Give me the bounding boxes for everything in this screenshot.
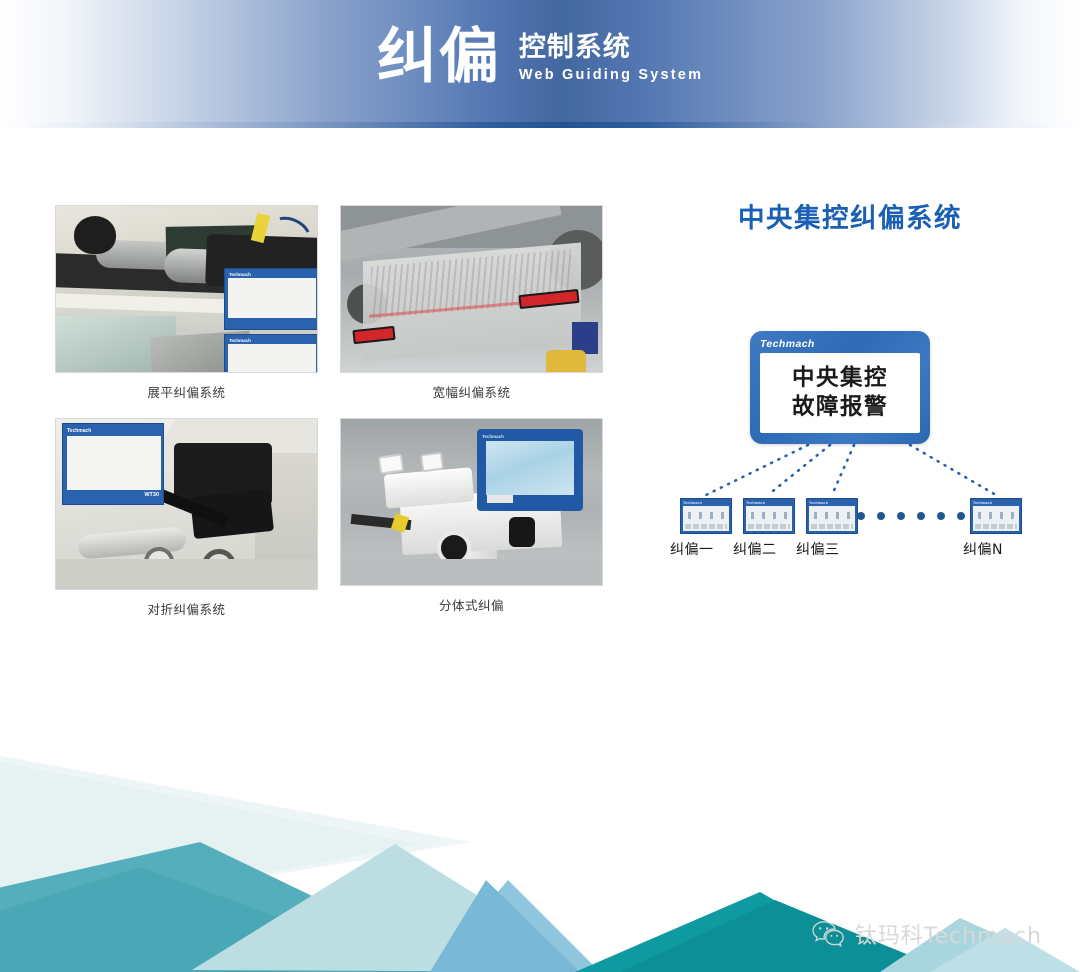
slide-page: 纠偏 控制系统 Web Guiding System Techmach [0,0,1080,972]
central-display-screen: 中央集控 故障报警 [760,353,920,433]
wechat-icon [811,920,845,948]
central-control-unit: Techmach 中央集控 故障报警 [750,331,930,444]
photo-cell-folding: Techmach WT30 对折纠偏系统 [55,418,318,618]
diagram-node-n[interactable]: Techmach [970,498,1022,534]
footer-account: 钛玛科Techmach [811,918,1042,950]
central-control-diagram: 中央集控纠偏系统 Techmach 中央集控 故障报警 Techmach [640,196,1060,526]
photo-folding-web-guide: Techmach WT30 [55,418,318,590]
photo-caption-split-type: 分体式纠偏 [340,595,603,614]
photo-control-panel: Techmach WT30 [62,423,164,505]
page-subtitle-english: Web Guiding System [519,67,703,83]
photo-split-type-guide: Techmach [340,418,603,586]
photo-panel-upper: Techmach [224,268,318,330]
diagram-title: 中央集控纠偏系统 [640,196,1060,235]
photo-row-bottom: Techmach WT30 对折纠偏系统 Te [55,418,603,618]
page-header: 纠偏 控制系统 Web Guiding System [0,0,1080,128]
title-side-group: 控制系统 Web Guiding System [519,32,703,87]
diagram-node-3[interactable]: Techmach [806,498,858,534]
diagram-node-2[interactable]: Techmach [743,498,795,534]
photo-panel-lower: Techmach [224,334,318,373]
photo-cell-split-type: Techmach 分体式纠偏 [340,418,603,618]
footer-account-name: 钛玛科Techmach [855,918,1042,950]
diagram-ellipsis-dots [857,512,965,520]
photo-flattening-web-guide: Techmach Techmach [55,205,318,373]
central-line-1: 中央集控 [792,365,888,392]
central-line-2: 故障报警 [792,394,888,421]
diagram-node-label-2: 纠偏二 [733,539,777,559]
diagram-node-label-3: 纠偏三 [796,539,840,559]
header-underline [0,122,1080,128]
photo-hmi-touchscreen: Techmach [477,429,583,511]
photo-gallery: Techmach Techmach 展平纠偏系统 宽幅纠偏系统 [55,205,603,618]
diagram-node-label-1: 纠偏一 [670,539,714,559]
central-brand-label: Techmach [760,338,920,350]
photo-wide-web-guide [340,205,603,373]
page-title: 纠偏 [377,27,501,87]
photo-cell-wide-web: 宽幅纠偏系统 [340,205,603,401]
diagram-body: Techmach 中央集控 故障报警 Techmach 纠偏一 Techmach… [640,255,1060,555]
photo-caption-folding: 对折纠偏系统 [55,599,318,618]
page-subtitle: 控制系统 [519,32,631,63]
photo-caption-flattening: 展平纠偏系统 [55,382,318,401]
photo-caption-wide-web: 宽幅纠偏系统 [340,382,603,401]
diagram-node-1[interactable]: Techmach [680,498,732,534]
title-group: 纠偏 控制系统 Web Guiding System [377,27,703,87]
photo-row-top: Techmach Techmach 展平纠偏系统 宽幅纠偏系统 [55,205,603,401]
diagram-node-label-n: 纠偏N [963,539,1003,559]
photo-cell-flattening: Techmach Techmach 展平纠偏系统 [55,205,318,401]
header-title-area: 纠偏 控制系统 Web Guiding System [0,0,1080,122]
